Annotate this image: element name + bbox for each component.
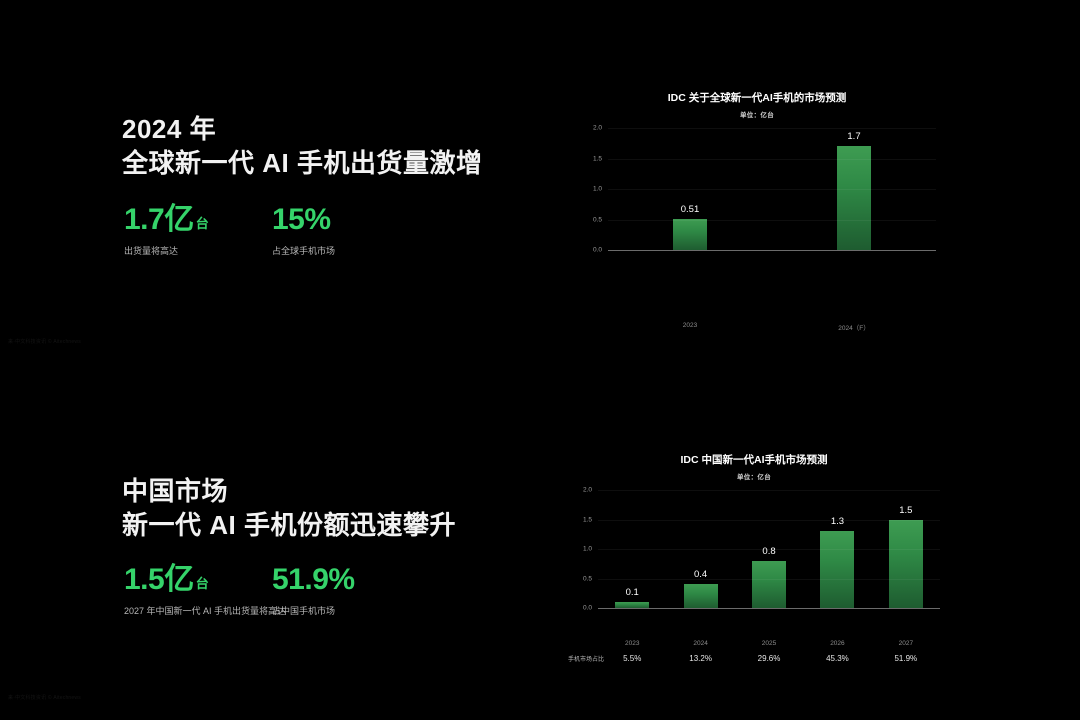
grid-line [598,520,940,521]
bar-value-label: 1.5 [899,505,912,516]
share-value: 45.3% [803,654,871,663]
section-china-stats: 1.5亿 台 2027 年中国新一代 AI 手机出货量将高达 51.9% 占中国… [124,565,357,617]
chart-global-forecast: IDC 关于全球新一代AI手机的市场预测 单位：亿台 0.00.51.01.52… [578,90,936,250]
stat-china-share: 51.9% 占中国手机市场 [272,565,357,617]
chart-y-axis: 0.00.51.01.52.0 [578,128,608,250]
headline-line-2: 全球新一代 AI 手机出货量激增 [122,146,482,180]
stat-number: 1.5亿 [124,565,194,595]
x-tick-label: 2025 [735,640,803,647]
headline-line-2: 新一代 AI 手机份额迅速攀升 [122,508,456,542]
bar[interactable]: 0.8 [752,561,786,608]
y-tick-label: 2.0 [583,487,592,494]
y-tick-label: 2.0 [593,125,602,132]
chart-y-axis: 0.00.51.01.52.0 [568,490,598,608]
grid-line [598,490,940,491]
x-tick-label: 2024 [666,640,734,647]
x-tick-label: 2026 [803,640,871,647]
section-global-headline: 2024 年 全球新一代 AI 手机出货量激增 [122,112,482,181]
stat-unit: 台 [196,217,209,230]
watermark-top: 来·中文科技资讯 © Aitechnews [8,338,81,345]
stat-caption: 2027 年中国新一代 AI 手机出货量将高达 [124,604,272,617]
stat-unit: 台 [196,577,209,590]
stat-value: 1.7亿 台 [124,205,272,235]
stat-value: 1.5亿 台 [124,565,272,595]
grid-line [598,549,940,550]
stat-number: 51.9% [272,565,355,595]
y-tick-label: 0.0 [593,247,602,254]
share-value: 5.5% [598,654,666,663]
chart-title: IDC 中国新一代AI手机市场预测 [568,452,940,467]
chart-x-axis-labels: 20232024（F） [608,322,936,332]
axis-baseline [598,608,940,609]
section-global-stats: 1.7亿 台 出货量将高达 15% 占全球手机市场 [124,205,335,257]
axis-baseline [608,250,936,251]
stat-number: 15% [272,205,331,235]
stat-caption: 占全球手机市场 [272,244,335,257]
headline-line-1: 中国市场 [122,474,456,508]
stat-global-share: 15% 占全球手机市场 [272,205,335,257]
chart-subtitle: 单位：亿台 [568,471,940,481]
bar[interactable]: 0.51 [673,219,707,250]
stat-china-shipments: 1.5亿 台 2027 年中国新一代 AI 手机出货量将高达 [124,565,272,617]
stat-caption: 占中国手机市场 [272,604,357,617]
bar[interactable]: 0.4 [684,584,718,608]
chart-plot-area: 0.00.51.01.52.0 0.511.7 [578,128,936,250]
grid-line [608,220,936,221]
bar-value-label: 1.7 [847,131,860,142]
x-tick-label: 2023 [608,322,772,332]
grid-line [608,128,936,129]
chart-title: IDC 关于全球新一代AI手机的市场预测 [578,90,936,105]
bar[interactable]: 1.5 [889,520,923,609]
y-tick-label: 1.0 [593,186,602,193]
slide-root: 2024 年 全球新一代 AI 手机出货量激增 1.7亿 台 出货量将高达 15… [0,0,1080,720]
x-tick-label: 2024（F） [772,322,936,332]
stat-caption: 出货量将高达 [124,244,272,257]
stat-global-shipments: 1.7亿 台 出货量将高达 [124,205,272,257]
y-tick-label: 1.5 [593,155,602,162]
grid-line [608,159,936,160]
y-tick-label: 0.5 [583,575,592,582]
x-tick-label: 2027 [872,640,940,647]
share-value: 29.6% [735,654,803,663]
chart-subtitle: 单位：亿台 [578,109,936,119]
section-global-copy: 2024 年 全球新一代 AI 手机出货量激增 [122,112,482,181]
stat-value: 15% [272,205,335,235]
bar[interactable]: 1.7 [837,146,871,250]
bar[interactable]: 1.3 [820,531,854,608]
stat-number: 1.7亿 [124,205,194,235]
bar-value-label: 0.8 [762,546,775,557]
stat-value: 51.9% [272,565,357,595]
share-row-cells: 5.5%13.2%29.6%45.3%51.9% [598,654,940,663]
chart-x-axis-labels: 20232024202520262027 [598,640,940,647]
share-value: 13.2% [666,654,734,663]
grid-line [608,189,936,190]
grid-line [598,579,940,580]
section-china-headline: 中国市场 新一代 AI 手机份额迅速攀升 [122,474,456,543]
y-tick-label: 1.0 [583,546,592,553]
x-tick-label: 2023 [598,640,666,647]
chart-plot-area: 0.00.51.01.52.0 0.10.40.81.31.5 [568,490,940,608]
chart-china-forecast: IDC 中国新一代AI手机市场预测 单位：亿台 0.00.51.01.52.0 … [568,452,940,608]
share-value: 51.9% [872,654,940,663]
headline-line-1: 2024 年 [122,112,482,146]
bar-value-label: 1.3 [831,516,844,527]
section-china-copy: 中国市场 新一代 AI 手机份额迅速攀升 [122,474,456,543]
bar-value-label: 0.51 [681,204,700,215]
bar-value-label: 0.1 [626,587,639,598]
y-tick-label: 0.5 [593,216,602,223]
y-tick-label: 1.5 [583,516,592,523]
y-tick-label: 0.0 [583,605,592,612]
watermark-bottom: 来·中文科技资讯 © Aitechnews [8,694,81,701]
